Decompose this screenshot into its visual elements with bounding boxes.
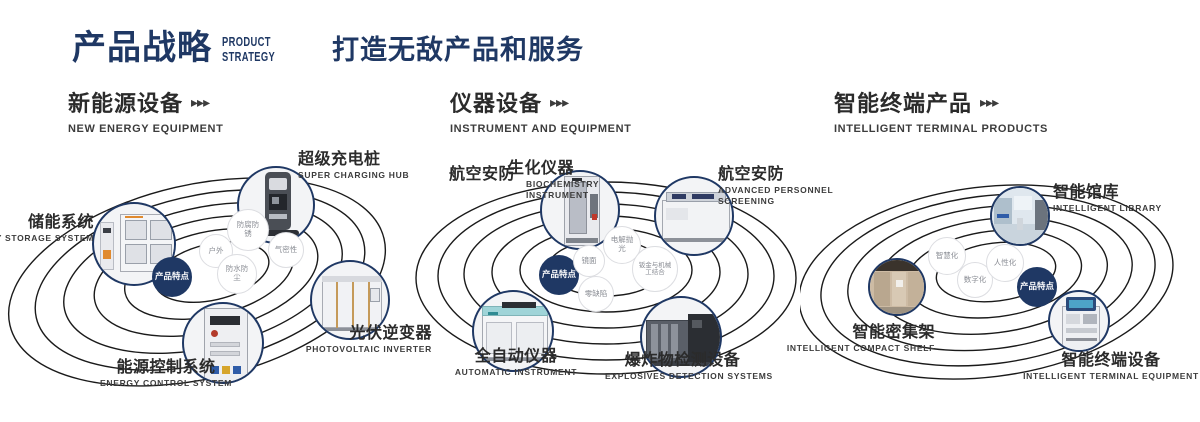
caption-en: INTELLIGENT COMPACT SHELF — [760, 343, 935, 354]
section-heading-intelligent-terminal: 智能终端产品▸▸▸ INTELLIGENT TERMINAL PRODUCTS — [834, 92, 1048, 135]
caption-en: EXPLOSIVES DETECTION SYSTEMS — [605, 371, 760, 382]
self-service-kiosk-icon — [1050, 292, 1108, 350]
bubble-label: 电解抛光 — [610, 236, 634, 253]
chevron-triple-icon: ▸▸▸ — [980, 94, 998, 111]
bubble-core-product-features: 产品特点 — [1017, 267, 1057, 307]
diagram-cluster-instrument: 航空安防 生化仪器 BIOCHEMISTRY INSTRUMENT 航空安防 A… — [400, 150, 810, 422]
page-title-en: PRODUCT STRATEGY — [222, 34, 275, 64]
caption-en: BIOCHEMISTRY INSTRUMENT — [526, 179, 618, 201]
caption-intelligent-library: 智能馆库 INTELLIGENT LIBRARY — [1053, 182, 1200, 214]
bubble-label: 智慧化 — [936, 252, 959, 261]
caption-cn: 航空安防 — [390, 164, 515, 183]
caption-biochemistry-instrument: 生化仪器 BIOCHEMISTRY INSTRUMENT — [508, 158, 638, 201]
bubble-label: 防水防尘 — [225, 265, 249, 282]
node-intelligent-compact-shelf[interactable] — [868, 258, 926, 316]
chevron-triple-icon: ▸▸▸ — [550, 94, 568, 111]
caption-cn: 能源控制系统 — [60, 357, 272, 376]
caption-en: ENERGY CONTROL SYSTEM — [60, 378, 272, 389]
bubble-core-product-features: 产品特点 — [152, 257, 192, 297]
caption-energy-control-system: 能源控制系统 ENERGY CONTROL SYSTEM — [60, 357, 272, 389]
bubble-feature-humanized: 人性化 — [986, 244, 1024, 282]
bubble-feature-sheetmetal-machining: 钣金与机械工结合 — [632, 246, 678, 292]
node-intelligent-terminal-equipment[interactable] — [1048, 290, 1110, 352]
caption-cn: 智能密集架 — [760, 322, 935, 341]
section-heading-new-energy: 新能源设备▸▸▸ NEW ENERGY EQUIPMENT — [68, 92, 223, 135]
bubble-feature-mirror-finish: 镜面 — [573, 245, 605, 277]
bubble-label: 镜面 — [582, 257, 597, 266]
caption-cn: 储能系统 — [0, 212, 94, 231]
caption-automatic-instrument: 全自动仪器 AUTOMATIC INSTRUMENT — [442, 346, 590, 378]
section-heading-cn: 仪器设备 — [450, 92, 542, 118]
bubble-core-label: 产品特点 — [1020, 282, 1054, 292]
page-subtitle: 打造无敌产品和服务 — [332, 34, 584, 68]
caption-cn: 智能馆库 — [1053, 182, 1200, 201]
caption-en: INTELLIGENT LIBRARY — [1053, 203, 1200, 214]
caption-intelligent-compact-shelf: 智能密集架 INTELLIGENT COMPACT SHELF — [760, 322, 935, 354]
section-heading-cn: 新能源设备 — [68, 92, 183, 118]
diagram-cluster-new-energy: 储能系统 ENERGY STORAGE SYSTEM 超级充电桩 SUPER C… — [0, 150, 420, 422]
page-title-en-line2: STRATEGY — [222, 49, 275, 64]
caption-cn: 生化仪器 — [508, 158, 638, 177]
caption-energy-storage-system: 储能系统 ENERGY STORAGE SYSTEM — [0, 212, 94, 244]
bubble-feature-airtightness: 气密性 — [268, 232, 304, 268]
node-intelligent-library[interactable] — [990, 186, 1050, 246]
compact-shelf-icon — [870, 260, 924, 314]
caption-en: AUTOMATIC INSTRUMENT — [442, 367, 590, 378]
diagram-cluster-intelligent-terminal: 智能馆库 INTELLIGENT LIBRARY 智能密集架 INTELLIGE… — [800, 150, 1200, 422]
bubble-label: 气密性 — [275, 246, 298, 255]
caption-en: INTELLIGENT TERMINAL EQUIPMENT — [1016, 371, 1200, 382]
bubble-feature-anticorrosion: 防腐防锈 — [227, 209, 269, 251]
bubble-feature-zero-defect: 零缺陷 — [578, 276, 614, 312]
caption-cn: 全自动仪器 — [442, 346, 590, 365]
caption-aviation-security-left: 航空安防 — [390, 164, 515, 183]
caption-explosives-detection-systems: 爆炸物检测设备 EXPLOSIVES DETECTION SYSTEMS — [605, 350, 760, 382]
page-title-cn: 产品战略 — [72, 28, 212, 68]
bubble-label: 防腐防锈 — [235, 221, 261, 238]
chevron-triple-icon: ▸▸▸ — [191, 94, 209, 111]
library-room-icon — [992, 188, 1048, 244]
bubble-label: 钣金与机械工结合 — [638, 262, 672, 277]
page-header: 产品战略 PRODUCT STRATEGY 打造无敌产品和服务 — [0, 0, 1200, 90]
caption-intelligent-terminal-equipment: 智能终端设备 INTELLIGENT TERMINAL EQUIPMENT — [1016, 350, 1200, 382]
section-heading-cn: 智能终端产品 — [834, 92, 972, 118]
section-heading-en: INSTRUMENT AND EQUIPMENT — [450, 123, 631, 135]
caption-cn: 智能终端设备 — [1016, 350, 1200, 369]
page-title-en-line1: PRODUCT — [222, 34, 275, 49]
bubble-label: 零缺陷 — [585, 290, 608, 299]
bubble-label: 人性化 — [994, 259, 1017, 268]
section-heading-en: NEW ENERGY EQUIPMENT — [68, 123, 223, 135]
section-heading-en: INTELLIGENT TERMINAL PRODUCTS — [834, 123, 1048, 135]
bubble-core-label: 产品特点 — [155, 272, 189, 282]
bubble-label: 户外 — [209, 247, 224, 256]
section-heading-instrument: 仪器设备▸▸▸ INSTRUMENT AND EQUIPMENT — [450, 92, 631, 135]
bubble-label: 数字化 — [964, 276, 987, 285]
bubble-core-label: 产品特点 — [542, 270, 576, 280]
bubble-feature-waterproof-dustproof: 防水防尘 — [217, 254, 257, 294]
caption-cn: 爆炸物检测设备 — [605, 350, 760, 369]
caption-en: ENERGY STORAGE SYSTEM — [0, 233, 94, 244]
